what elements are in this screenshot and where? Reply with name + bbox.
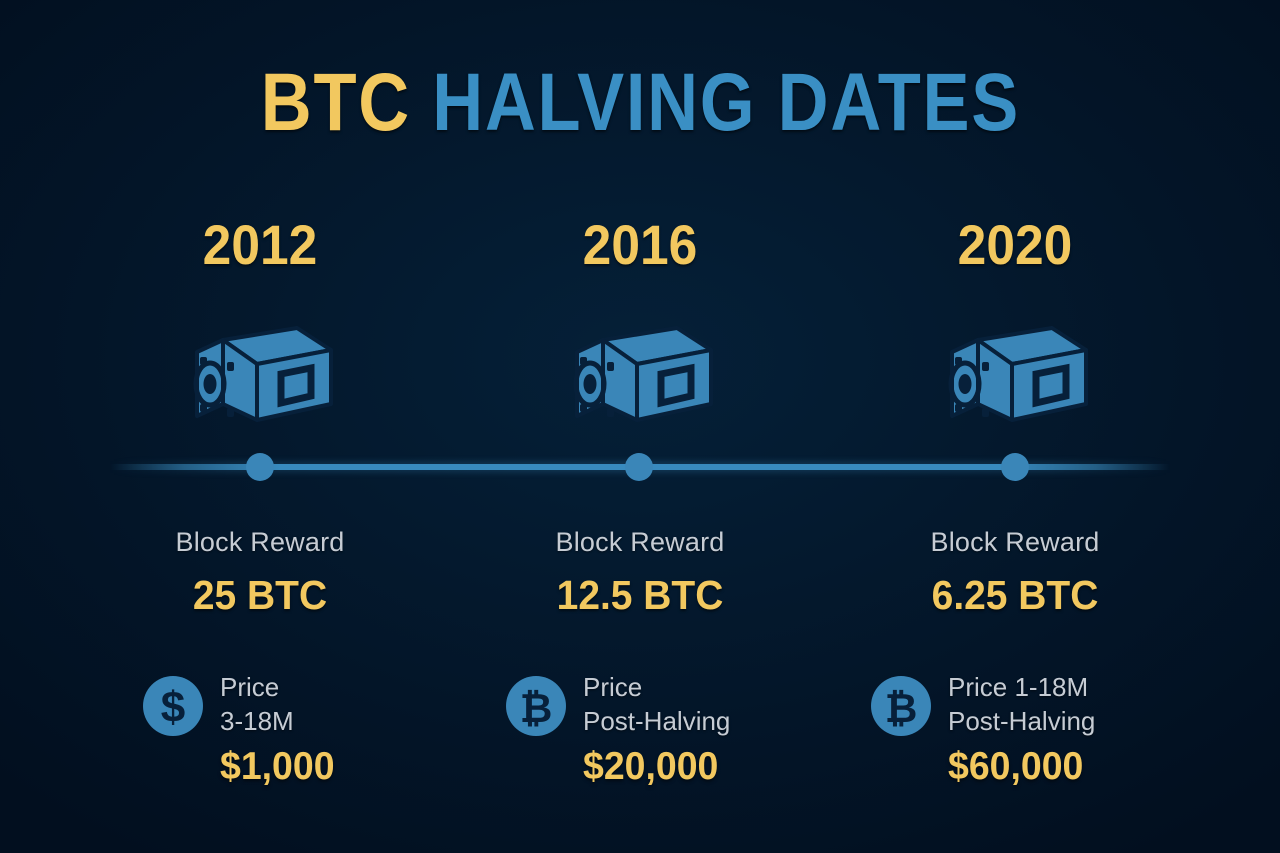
price-row: $ Price 3-18M $1,000	[142, 668, 502, 786]
price-row: ₿ Price Post-Halving $20,000	[505, 668, 865, 786]
svg-text:$: $	[161, 683, 185, 732]
year-label: 2020	[849, 212, 1180, 277]
block-cube-icon	[565, 312, 715, 432]
price-value: $1,000	[220, 747, 335, 786]
block-reward-value: 12.5 BTC	[469, 572, 811, 619]
price-row: ₿ Price 1-18M Post-Halving $60,000	[870, 668, 1230, 786]
svg-text:₿: ₿	[885, 687, 918, 731]
year-label: 2012	[94, 212, 425, 277]
infographic-root: { "title": { "part1": "BTC", "part2": "H…	[0, 0, 1280, 853]
price-label-line1: Price	[220, 670, 339, 704]
block-reward-label: Block Reward	[80, 527, 440, 558]
block-cube-icon	[185, 312, 335, 432]
price-label-line2: 3-18M	[220, 704, 339, 738]
price-value: $60,000	[948, 747, 1090, 786]
block-reward-value: 25 BTC	[89, 572, 431, 619]
halving-columns: 2012	[0, 0, 1280, 853]
block-reward-value: 6.25 BTC	[844, 572, 1186, 619]
dollar-sign-icon: $	[142, 675, 204, 737]
price-label-line2: Post-Halving	[583, 704, 730, 738]
halving-column-2012: 2012	[80, 0, 440, 853]
bitcoin-symbol-icon: ₿	[870, 675, 932, 737]
svg-text:₿: ₿	[520, 687, 553, 731]
halving-column-2020: 2020 Block Reward 6.2	[835, 0, 1195, 853]
price-label-line2: Post-Halving	[948, 704, 1095, 738]
price-value: $20,000	[583, 747, 725, 786]
bitcoin-symbol-icon: ₿	[505, 675, 567, 737]
block-reward-label: Block Reward	[460, 527, 820, 558]
year-label: 2016	[474, 212, 805, 277]
block-cube-icon	[940, 312, 1090, 432]
price-label-line1: Price	[583, 670, 730, 704]
price-label-line1: Price 1-18M	[948, 670, 1095, 704]
halving-column-2016: 2016 Block Reward 12.	[460, 0, 820, 853]
block-reward-label: Block Reward	[835, 527, 1195, 558]
